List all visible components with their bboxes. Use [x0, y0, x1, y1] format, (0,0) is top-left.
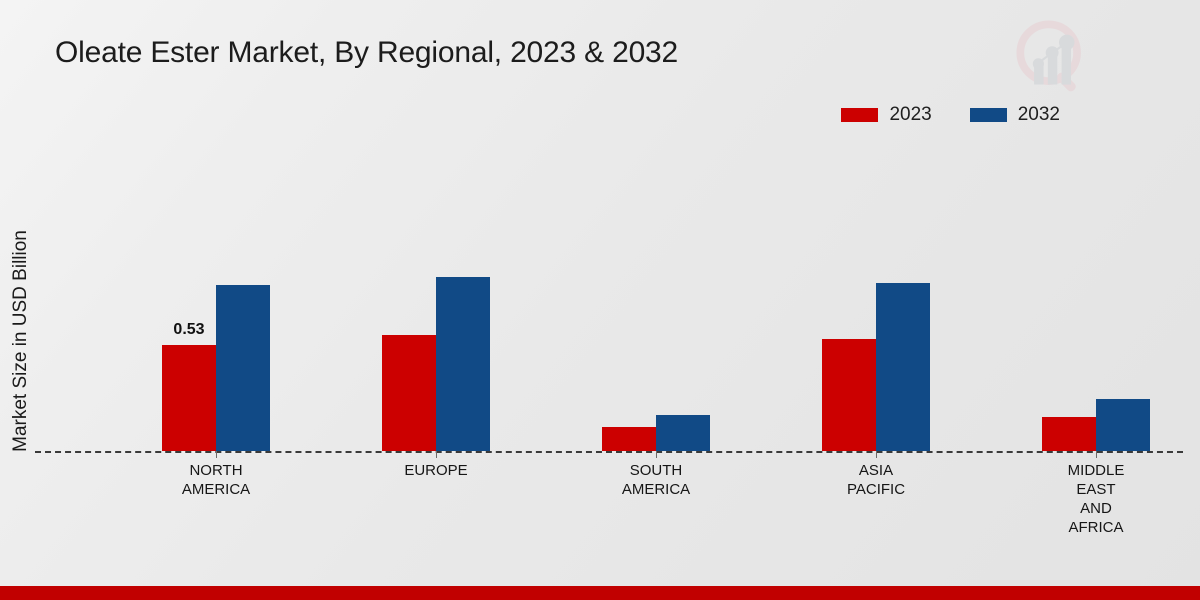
bar-value-label: 0.53 — [173, 321, 204, 339]
legend-swatch-2023 — [841, 108, 878, 122]
bar-group — [766, 130, 986, 451]
bar-pair: 0.53 — [106, 130, 326, 451]
bar-group — [326, 130, 546, 451]
chart-legend: 2023 2032 — [841, 104, 1060, 126]
legend-item-2023[interactable]: 2023 — [841, 104, 931, 126]
x-axis-tick — [876, 451, 877, 458]
bar-pair — [986, 130, 1200, 451]
legend-label-2032: 2032 — [1018, 104, 1060, 126]
y-axis-title-text: Market Size in USD Billion — [10, 230, 32, 452]
bar-group: 0.53 — [106, 130, 326, 451]
chart-title: Oleate Ester Market, By Regional, 2023 &… — [55, 36, 678, 70]
bar-2032-asia-pacific[interactable] — [876, 283, 930, 451]
x-axis-category-label: SOUTHAMERICA — [546, 461, 766, 499]
y-axis-title: Market Size in USD Billion — [6, 170, 36, 530]
x-axis-category-label: MIDDLEEASTANDAFRICA — [986, 461, 1200, 537]
category-label-line: PACIFIC — [766, 480, 986, 499]
legend-swatch-2032 — [970, 108, 1007, 122]
bar-2023-asia-pacific[interactable] — [822, 339, 876, 451]
bar-2023-middle-east-and-africa[interactable] — [1042, 417, 1096, 451]
bar-2032-europe[interactable] — [436, 277, 490, 451]
bar-2023-south-america[interactable] — [602, 427, 656, 451]
category-label-line: NORTH — [106, 461, 326, 480]
legend-label-2023: 2023 — [889, 104, 931, 126]
bar-2032-south-america[interactable] — [656, 415, 710, 451]
category-label-line: MIDDLE — [986, 461, 1200, 480]
bar-pair — [546, 130, 766, 451]
x-axis-category-label: NORTHAMERICA — [106, 461, 326, 499]
bar-2032-middle-east-and-africa[interactable] — [1096, 399, 1150, 451]
bottom-accent-band — [0, 586, 1200, 600]
x-axis-baseline — [35, 451, 1183, 453]
bar-group — [986, 130, 1200, 451]
x-axis-category-label: ASIAPACIFIC — [766, 461, 986, 499]
category-label-line: AMERICA — [546, 480, 766, 499]
bar-2023-europe[interactable] — [382, 335, 436, 451]
chart-figure: Oleate Ester Market, By Regional, 2023 &… — [0, 0, 1200, 600]
category-label-line: AMERICA — [106, 480, 326, 499]
bar-pair — [766, 130, 986, 451]
category-label-line: EAST — [986, 480, 1200, 499]
bar-2023-north-america[interactable]: 0.53 — [162, 345, 216, 451]
x-axis-category-label: EUROPE — [326, 461, 546, 480]
watermark-logo-icon — [1010, 14, 1096, 100]
x-axis-tick — [216, 451, 217, 458]
bar-group — [546, 130, 766, 451]
category-label-line: ASIA — [766, 461, 986, 480]
legend-item-2032[interactable]: 2032 — [970, 104, 1060, 126]
category-label-line: EUROPE — [326, 461, 546, 480]
bar-2032-north-america[interactable] — [216, 285, 270, 451]
category-label-line: AFRICA — [986, 518, 1200, 537]
x-axis-tick — [1096, 451, 1097, 458]
bar-pair — [326, 130, 546, 451]
x-axis-tick — [436, 451, 437, 458]
category-label-line: AND — [986, 499, 1200, 518]
category-label-line: SOUTH — [546, 461, 766, 480]
x-axis-tick — [656, 451, 657, 458]
plot-area: 0.53 — [60, 130, 1185, 451]
